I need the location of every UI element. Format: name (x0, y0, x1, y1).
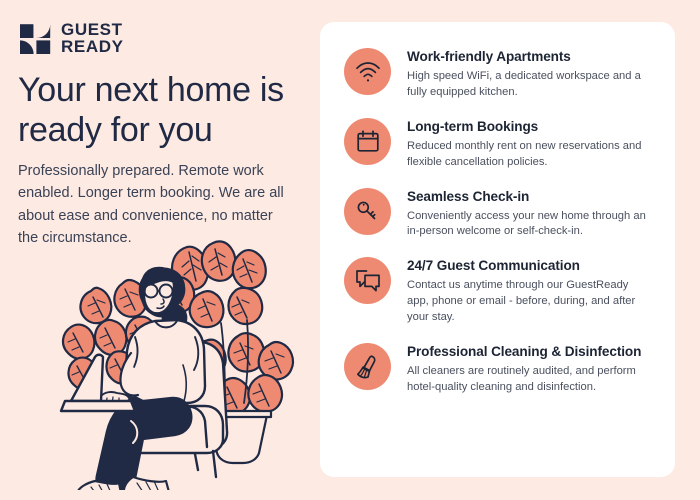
feature-description: High speed WiFi, a dedicated workspace a… (407, 69, 653, 101)
list-item[interactable]: Seamless Check-in Conveniently access yo… (344, 188, 653, 241)
brand-wordmark: GUEST READY (61, 22, 124, 55)
feature-title: 24/7 Guest Communication (407, 258, 653, 275)
feature-text: Work-friendly Apartments High speed WiFi… (407, 48, 653, 101)
list-item[interactable]: Professional Cleaning & Disinfection All… (344, 343, 653, 396)
feature-title: Work-friendly Apartments (407, 49, 653, 66)
chat-bubbles-icon (344, 257, 391, 304)
feature-description: Contact us anytime through our GuestRead… (407, 278, 653, 326)
feature-text: 24/7 Guest Communication Contact us anyt… (407, 257, 653, 326)
list-item[interactable]: 24/7 Guest Communication Contact us anyt… (344, 257, 653, 326)
calendar-icon (344, 118, 391, 165)
feature-title: Seamless Check-in (407, 189, 653, 206)
key-icon (344, 188, 391, 235)
feature-title: Professional Cleaning & Disinfection (407, 344, 653, 361)
feature-text: Seamless Check-in Conveniently access yo… (407, 188, 653, 241)
feature-description: Reduced monthly rent on new reservations… (407, 139, 653, 171)
guestready-quadrant-logo-icon (18, 23, 52, 55)
page-title: Your next home is ready for you (18, 70, 308, 150)
broom-icon (344, 343, 391, 390)
brand-logo[interactable]: GUEST READY (18, 22, 124, 55)
feature-title: Long-term Bookings (407, 119, 653, 136)
list-item[interactable]: Long-term Bookings Reduced monthly rent … (344, 118, 653, 171)
feature-description: Conveniently access your new home throug… (407, 209, 653, 241)
wifi-icon (344, 48, 391, 95)
brand-line-2: READY (61, 39, 124, 56)
hero-illustration (35, 225, 310, 490)
feature-text: Professional Cleaning & Disinfection All… (407, 343, 653, 396)
feature-description: All cleaners are routinely audited, and … (407, 364, 653, 396)
feature-text: Long-term Bookings Reduced monthly rent … (407, 118, 653, 171)
features-list: Work-friendly Apartments High speed WiFi… (344, 48, 653, 396)
features-card: Work-friendly Apartments High speed WiFi… (320, 22, 675, 477)
hero-column: GUEST READY Your next home is ready for … (0, 0, 320, 500)
promo-page: GUEST READY Your next home is ready for … (0, 0, 700, 500)
list-item[interactable]: Work-friendly Apartments High speed WiFi… (344, 48, 653, 101)
